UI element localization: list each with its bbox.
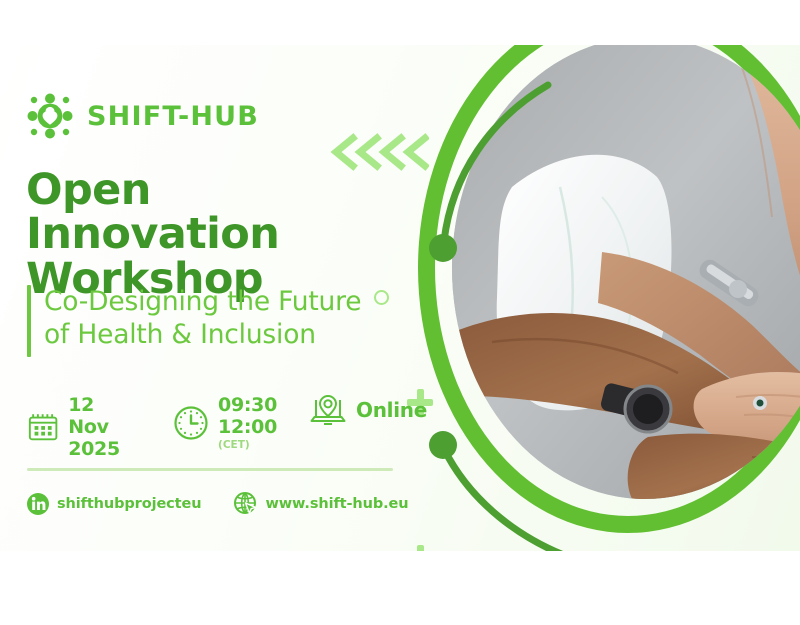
linkedin-handle: shifthubprojecteu xyxy=(57,496,201,512)
divider xyxy=(27,468,393,471)
event-location-text: Online xyxy=(356,399,427,422)
event-date-text: 12 Nov 2025 xyxy=(68,394,137,460)
subtitle-block: Co-Designing the Future of Health & Incl… xyxy=(27,285,361,357)
event-time-start: 09:30 xyxy=(218,394,277,416)
page-title: Open Innovation Workshop xyxy=(26,168,416,301)
event-date: 12 Nov 2025 xyxy=(27,394,137,460)
subtitle-accent-bar xyxy=(27,285,31,357)
brand-logo: SHIFT-HUB xyxy=(27,93,259,139)
linkedin-link[interactable]: shifthubprojecteu xyxy=(27,493,201,515)
brand-name: SHIFT-HUB xyxy=(87,101,259,132)
event-date-line-2: 2025 xyxy=(68,438,137,460)
event-time-end: 12:00 xyxy=(218,416,277,438)
title-line-1: Open Innovation xyxy=(26,168,416,257)
event-banner: SHIFT-HUB Open Innovation Workshop Co-De… xyxy=(0,45,800,551)
event-time-text: 09:30 12:00 (CET) xyxy=(218,394,277,451)
website-url: www.shift-hub.eu xyxy=(265,496,408,512)
photo-composition xyxy=(400,45,800,551)
event-date-line-1: 12 Nov xyxy=(68,394,137,438)
event-time: 09:30 12:00 (CET) xyxy=(173,394,277,451)
event-details: 12 Nov 2025 xyxy=(27,394,427,460)
linkedin-icon xyxy=(27,493,49,515)
event-timezone: (CET) xyxy=(218,439,277,451)
subtitle-line-2: of Health & Inclusion xyxy=(44,318,361,351)
website-link[interactable]: www.shift-hub.eu xyxy=(234,492,408,515)
event-location: Online xyxy=(309,394,427,428)
laptop-location-icon xyxy=(309,394,347,428)
banner-footer: shifthubprojecteu www.shift-hub.eu xyxy=(27,492,409,515)
clock-icon xyxy=(173,405,209,441)
event-location-value: Online xyxy=(356,399,427,422)
banner-content: SHIFT-HUB Open Innovation Workshop Co-De… xyxy=(27,45,427,551)
calendar-icon xyxy=(27,410,59,444)
subtitle-line-1: Co-Designing the Future xyxy=(44,285,361,318)
shift-hub-people-heart-logo xyxy=(27,93,73,139)
globe-cursor-icon xyxy=(234,492,257,515)
page-subtitle: Co-Designing the Future of Health & Incl… xyxy=(44,285,361,357)
